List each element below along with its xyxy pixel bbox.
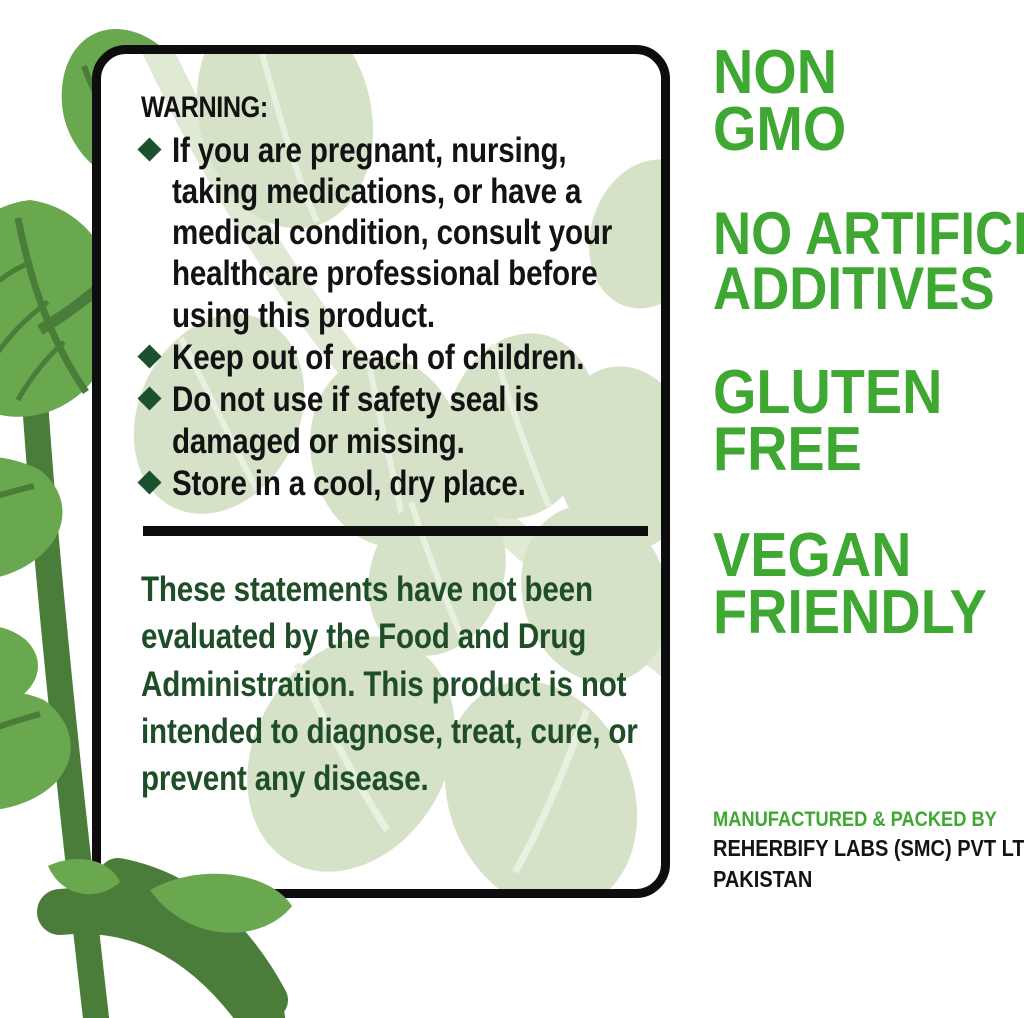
warning-item: Keep out of reach of children. <box>141 337 639 378</box>
claim-line: NON <box>713 44 993 101</box>
manufacturer-heading: MANUFACTURED & PACKED BY <box>713 806 984 833</box>
manufacturer-company: REHERBIFY LABS (SMC) PVT LTD. <box>713 833 984 863</box>
claim-line: VEGAN <box>713 527 993 584</box>
warning-item-text: Store in a cool, dry place. <box>172 463 640 504</box>
claim-gluten-free: GLUTEN FREE <box>713 364 1024 478</box>
warning-item-text: If you are pregnant, nursing, taking med… <box>172 130 640 336</box>
warning-card: WARNING: If you are pregnant, nursing, t… <box>92 45 670 898</box>
diamond-bullet-icon <box>137 137 161 161</box>
section-divider <box>143 526 648 536</box>
product-label-poster: WARNING: If you are pregnant, nursing, t… <box>0 0 1024 1018</box>
card-content: WARNING: If you are pregnant, nursing, t… <box>101 54 661 802</box>
claim-non-gmo: NON GMO <box>713 44 1024 158</box>
fda-disclaimer-text: These statements have not been evaluated… <box>141 566 640 802</box>
warning-item-text: Do not use if safety seal is damaged or … <box>172 379 640 462</box>
diamond-bullet-icon <box>137 470 161 494</box>
claim-line: FREE <box>713 421 993 478</box>
claim-line: GMO <box>713 101 993 158</box>
warning-item: Do not use if safety seal is damaged or … <box>141 379 639 462</box>
warning-item: If you are pregnant, nursing, taking med… <box>141 130 639 336</box>
claim-vegan-friendly: VEGAN FRIENDLY <box>713 527 1024 641</box>
warning-list: If you are pregnant, nursing, taking med… <box>141 130 639 505</box>
warning-item-text: Keep out of reach of children. <box>172 337 640 378</box>
claim-line: ADDITIVES <box>713 261 987 316</box>
warning-item: Store in a cool, dry place. <box>141 463 639 504</box>
claim-line: FRIENDLY <box>713 584 993 641</box>
claim-line: NO ARTIFICIAL <box>713 206 987 261</box>
manufacturer-block: MANUFACTURED & PACKED BY REHERBIFY LABS … <box>713 806 1024 894</box>
claim-line: GLUTEN <box>713 364 993 421</box>
warning-heading: WARNING: <box>141 92 559 124</box>
diamond-bullet-icon <box>137 344 161 368</box>
claim-no-artificial-additives: NO ARTIFICIAL ADDITIVES <box>713 206 1024 316</box>
diamond-bullet-icon <box>137 387 161 411</box>
product-claims-list: NON GMO NO ARTIFICIAL ADDITIVES GLUTEN F… <box>713 44 1024 641</box>
manufacturer-country: PAKISTAN <box>713 864 984 894</box>
